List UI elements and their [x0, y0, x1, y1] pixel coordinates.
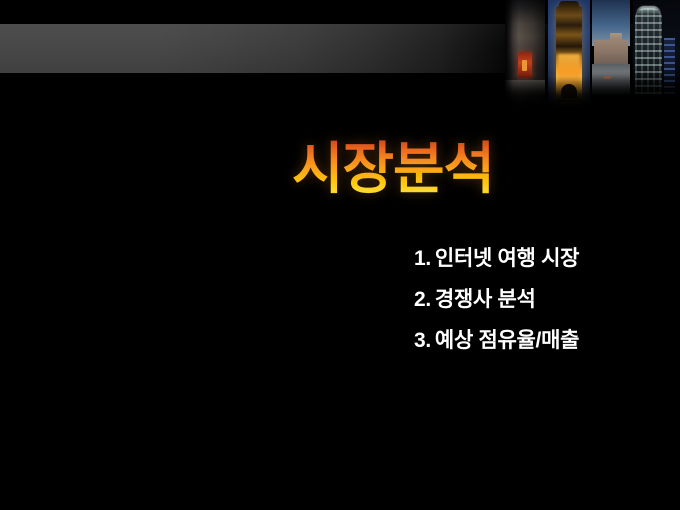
presentation-slide: 시장분석 1.인터넷 여행 시장 2.경쟁사 분석 3.예상 점유율/매출 — [0, 0, 680, 510]
photo-bottom-fade — [505, 74, 545, 108]
photo-strip — [500, 0, 680, 115]
photo-bottom-fade — [592, 71, 630, 105]
night-cityscape-photo — [633, 0, 680, 102]
agenda-item-2-number: 2. — [414, 288, 431, 311]
photo-detail-light — [522, 60, 527, 71]
weathered-building-photo — [505, 0, 545, 108]
agenda-item-1-number: 1. — [414, 247, 431, 270]
agenda-item-3-label: 예상 점유율/매출 — [435, 329, 579, 352]
photo-bottom-fade — [633, 68, 680, 102]
title-container: 시장분석 — [0, 140, 680, 199]
photo-building-near — [594, 40, 628, 66]
photo-bottom-fade — [548, 76, 590, 110]
city-plaza-daytime-photo — [592, 0, 630, 105]
agenda-item-2-label: 경쟁사 분석 — [435, 288, 536, 311]
tower-spire — [559, 1, 579, 13]
agenda-item-1: 1.인터넷 여행 시장 — [414, 248, 674, 269]
illuminated-clock-tower-photo — [548, 0, 590, 110]
slide-title: 시장분석 — [286, 140, 494, 199]
agenda-item-1-label: 인터넷 여행 시장 — [435, 247, 579, 270]
agenda-item-3-number: 3. — [414, 329, 431, 352]
agenda-list: 1.인터넷 여행 시장 2.경쟁사 분석 3.예상 점유율/매출 — [414, 248, 674, 351]
agenda-item-3: 3.예상 점유율/매출 — [414, 330, 674, 351]
agenda-item-2: 2.경쟁사 분석 — [414, 289, 674, 310]
night-highrise-crown — [636, 6, 661, 14]
